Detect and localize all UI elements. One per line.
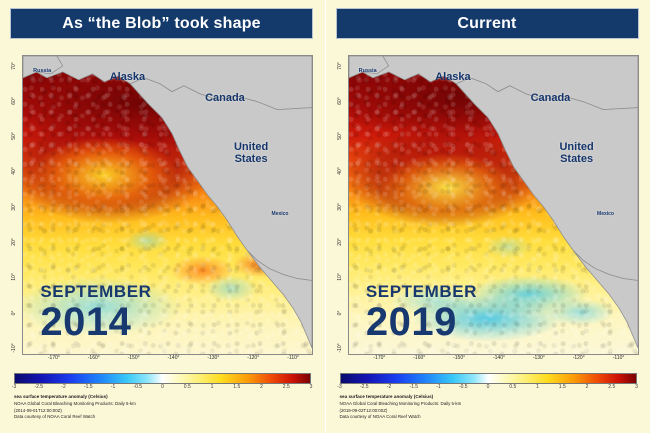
map-2014: Russia Alaska Canada United States Mexic… [22,55,313,355]
colorbar-tick-label: 1 [536,384,539,390]
y-tick-label: 50° [337,128,343,144]
colorbar-tick-label: -2.5 [34,384,43,390]
geo-label-united-states: United States [234,142,268,165]
x-tick-label: -160° [413,355,425,361]
colorbar-tick-labels: -3-2.5-2-1.5-1-0.500.511.522.53 [14,384,311,393]
geo-label-canada: Canada [531,92,571,104]
geo-label-mexico: Mexico [272,211,289,217]
colorbar-tick-label: -2 [387,384,391,390]
caption-line-variable: sea surface temperature anomaly (Celsius… [14,394,314,401]
colorbar-tick-label: -1.5 [409,384,418,390]
panel-2014: As “the Blob” took shape Russia Alaska C… [0,0,326,433]
y-tick-label: 60° [11,93,17,109]
y-tick-label: 0° [337,305,343,321]
caption-2014: sea surface temperature anomaly (Celsius… [14,394,314,421]
panel-title-text: As “the Blob” took shape [62,15,261,33]
caption-2019: sea surface temperature anomaly (Celsius… [340,394,640,421]
x-axis-2019: -170°-160°-150°-140°-130°-120°-110° [348,355,639,369]
colorbar-tick-labels: -3-2.5-2-1.5-1-0.500.511.522.53 [340,384,637,393]
x-tick-label: -160° [88,355,100,361]
colorbar-2019: -3-2.5-2-1.5-1-0.500.511.522.53 [340,373,637,393]
geo-label-united-states-line1: United [234,141,268,153]
geo-label-canada: Canada [205,92,245,104]
date-stamp-2014: SEPTEMBER 2014 [40,283,151,342]
colorbar-tick-label: 0.5 [509,384,516,390]
colorbar-tick-label: -1 [436,384,440,390]
y-tick-label: 30° [11,199,17,215]
colorbar-tick-label: -1.5 [84,384,93,390]
y-tick-label: -10° [11,340,17,356]
y-tick-label: 10° [11,269,17,285]
geo-label-alaska: Alaska [435,71,470,83]
y-tick-label: 50° [11,128,17,144]
panel-title-text: Current [457,15,516,33]
y-tick-label: 10° [337,269,343,285]
caption-line-credit: Data courtesy of NOAA Coral Reef Watch [340,414,640,421]
colorbar-tick-label: -3 [12,384,16,390]
stamp-month: SEPTEMBER [366,283,477,300]
geo-label-russia: Russia [359,68,377,74]
stamp-month: SEPTEMBER [40,283,151,300]
colorbar-tick-label: 2.5 [608,384,615,390]
x-tick-label: -130° [533,355,545,361]
geo-label-russia: Russia [33,68,51,74]
x-tick-label: -120° [573,355,585,361]
colorbar-tick-label: -0.5 [133,384,142,390]
colorbar-tick-label: 1 [211,384,214,390]
colorbar-gradient [14,373,311,384]
y-tick-label: 70° [337,58,343,74]
caption-line-product: NOAA Global Coral Bleaching Monitoring P… [340,401,640,408]
map-2019: Russia Alaska Canada United States Mexic… [348,55,639,355]
date-stamp-2019: SEPTEMBER 2019 [366,283,477,342]
panel-title-bar-2014: As “the Blob” took shape [10,8,313,39]
y-tick-label: 0° [11,305,17,321]
colorbar-gradient [340,373,637,384]
x-tick-label: -140° [167,355,179,361]
colorbar-tick-label: -2 [61,384,65,390]
stamp-year: 2019 [366,302,477,342]
sst-anomaly-comparison-figure: As “the Blob” took shape Russia Alaska C… [0,0,650,433]
geo-label-alaska: Alaska [110,71,145,83]
geo-label-mexico: Mexico [597,211,614,217]
colorbar-tick-label: -1 [111,384,115,390]
panel-container: As “the Blob” took shape Russia Alaska C… [0,0,650,433]
y-tick-label: 20° [11,234,17,250]
y-axis-2019: 70°60°50°40°30°20°10°0°-10° [332,55,348,355]
caption-line-variable: sea surface temperature anomaly (Celsius… [340,394,640,401]
geo-label-united-states-line1: United [559,141,593,153]
y-tick-label: 60° [337,93,343,109]
x-tick-label: -150° [453,355,465,361]
x-tick-label: -140° [493,355,505,361]
y-tick-label: 40° [337,163,343,179]
geo-label-united-states: United States [559,142,593,165]
x-tick-label: -110° [287,355,299,361]
colorbar-tick-label: 2 [586,384,589,390]
x-axis-2014: -170°-160°-150°-140°-130°-120°-110° [22,355,313,369]
x-tick-label: -170° [373,355,385,361]
x-tick-label: -150° [128,355,140,361]
y-tick-label: 30° [337,199,343,215]
x-tick-label: -130° [207,355,219,361]
x-tick-label: -170° [48,355,60,361]
caption-line-credit: Data courtesy of NOAA Coral Reef Watch [14,414,314,421]
caption-line-timestamp: (2014-09-01T12:00:00Z) [14,408,314,415]
panel-title-bar-2019: Current [336,8,639,39]
caption-line-timestamp: (2019-09-02T12:00:00Z) [340,408,640,415]
colorbar-tick-label: 3 [635,384,638,390]
colorbar-tick-label: -2.5 [360,384,369,390]
y-axis-2014: 70°60°50°40°30°20°10°0°-10° [6,55,22,355]
colorbar-tick-label: 2 [260,384,263,390]
y-tick-label: 70° [11,58,17,74]
caption-line-product: NOAA Global Coral Bleaching Monitoring P… [14,401,314,408]
geo-label-united-states-line2: States [235,153,268,165]
colorbar-tick-label: 1.5 [233,384,240,390]
colorbar-tick-label: 1.5 [559,384,566,390]
colorbar-tick-label: -0.5 [459,384,468,390]
colorbar-tick-label: -3 [337,384,341,390]
x-tick-label: -120° [247,355,259,361]
colorbar-tick-label: 3 [310,384,313,390]
colorbar-tick-label: 0 [161,384,164,390]
panel-2019: Current Russia Alaska Canada United [326,0,650,433]
y-tick-label: -10° [337,340,343,356]
stamp-year: 2014 [40,302,151,342]
colorbar-tick-label: 2.5 [283,384,290,390]
x-tick-label: -110° [613,355,625,361]
colorbar-2014: -3-2.5-2-1.5-1-0.500.511.522.53 [14,373,311,393]
y-tick-label: 40° [11,163,17,179]
colorbar-tick-label: 0 [487,384,490,390]
colorbar-tick-label: 0.5 [184,384,191,390]
y-tick-label: 20° [337,234,343,250]
geo-label-united-states-line2: States [560,153,593,165]
